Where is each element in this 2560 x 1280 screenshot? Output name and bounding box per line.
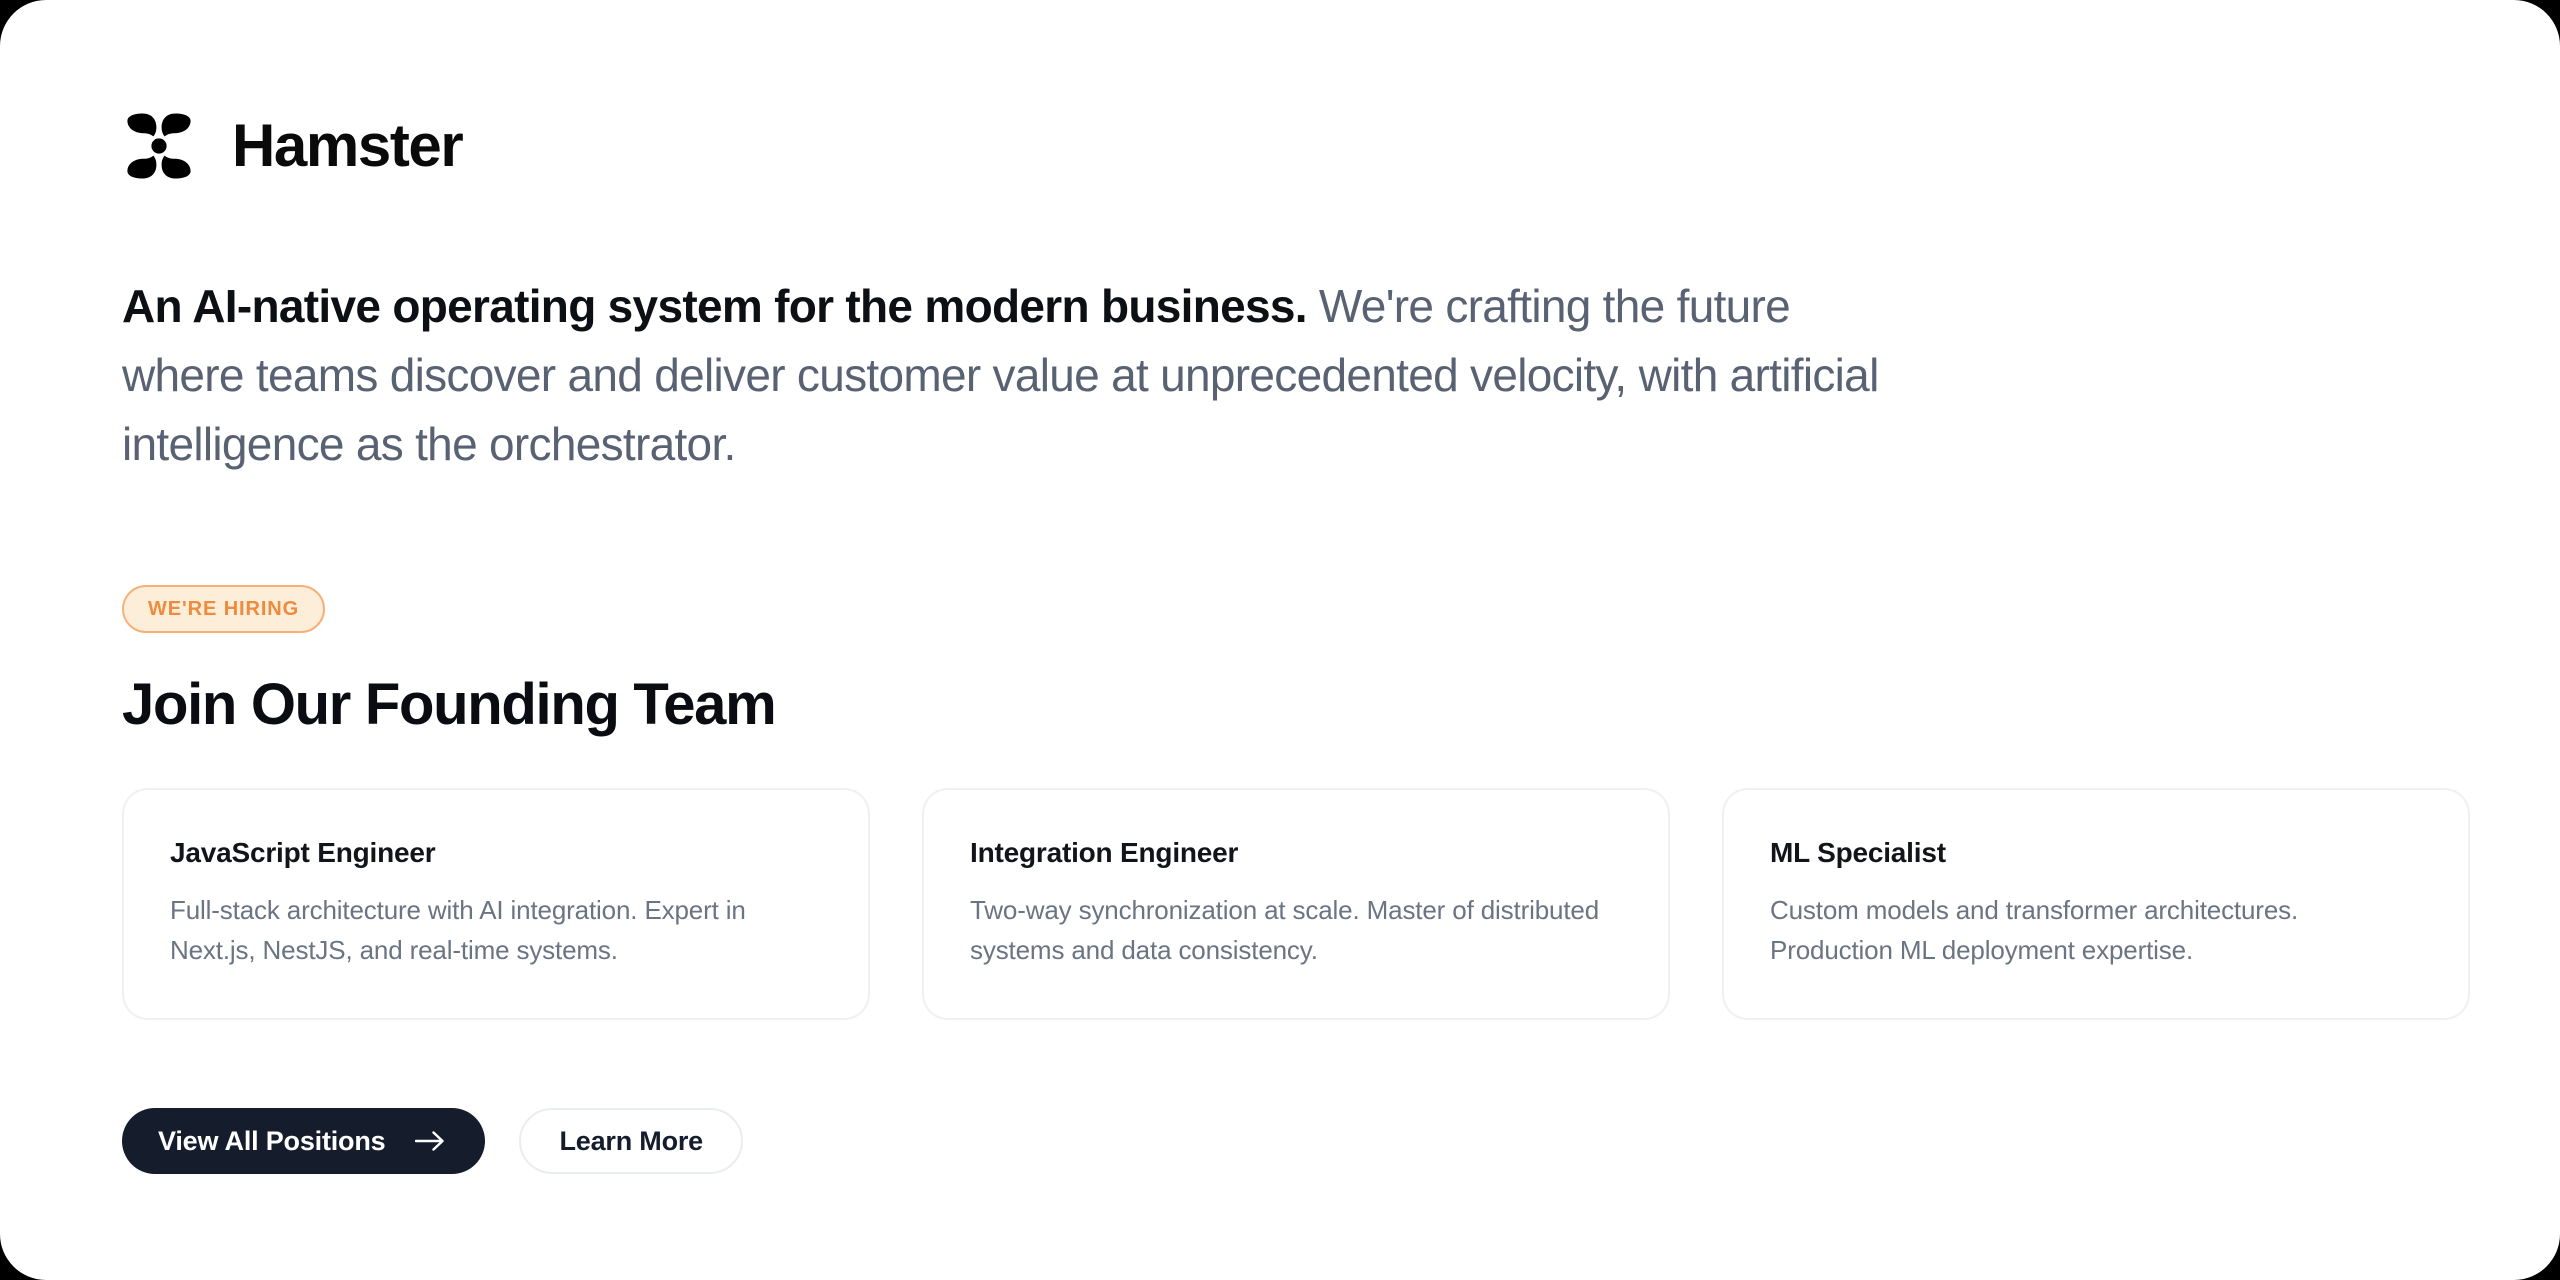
learn-more-button[interactable]: Learn More bbox=[519, 1108, 743, 1174]
status-badge-were-hiring: WE'RE HIRING bbox=[122, 585, 325, 633]
role-card-integration-engineer[interactable]: Integration Engineer Two-way synchroniza… bbox=[922, 788, 1670, 1020]
role-card-grid: JavaScript Engineer Full-stack architect… bbox=[122, 788, 2470, 1020]
brand-wordmark: Hamster bbox=[232, 116, 462, 176]
learn-more-label: Learn More bbox=[559, 1126, 703, 1157]
arrow-right-icon bbox=[415, 1130, 445, 1152]
role-card-description: Full-stack architecture with AI integrat… bbox=[170, 890, 824, 970]
content-container: Hamster An AI-native operating system fo… bbox=[122, 0, 2470, 1280]
view-all-positions-button[interactable]: View All Positions bbox=[122, 1108, 485, 1174]
role-card-ml-specialist[interactable]: ML Specialist Custom models and transfor… bbox=[1722, 788, 2470, 1020]
action-button-row: View All Positions Learn More bbox=[122, 1108, 743, 1174]
role-card-description: Custom models and transformer architectu… bbox=[1770, 890, 2424, 970]
view-all-positions-label: View All Positions bbox=[158, 1126, 385, 1157]
brand-logo[interactable]: Hamster bbox=[122, 108, 462, 184]
role-card-title: Integration Engineer bbox=[970, 836, 1624, 870]
page-canvas: Hamster An AI-native operating system fo… bbox=[0, 0, 2560, 1280]
hamster-flower-logo-icon bbox=[122, 109, 196, 183]
role-card-title: ML Specialist bbox=[1770, 836, 2424, 870]
hiring-badge-row: WE'RE HIRING bbox=[122, 585, 325, 633]
role-card-description: Two-way synchronization at scale. Master… bbox=[970, 890, 1624, 970]
hero-lead-sentence: An AI-native operating system for the mo… bbox=[122, 280, 1307, 332]
role-card-title: JavaScript Engineer bbox=[170, 836, 824, 870]
hero-paragraph: An AI-native operating system for the mo… bbox=[122, 272, 1882, 479]
role-card-javascript-engineer[interactable]: JavaScript Engineer Full-stack architect… bbox=[122, 788, 870, 1020]
page-title: Join Our Founding Team bbox=[122, 672, 775, 739]
